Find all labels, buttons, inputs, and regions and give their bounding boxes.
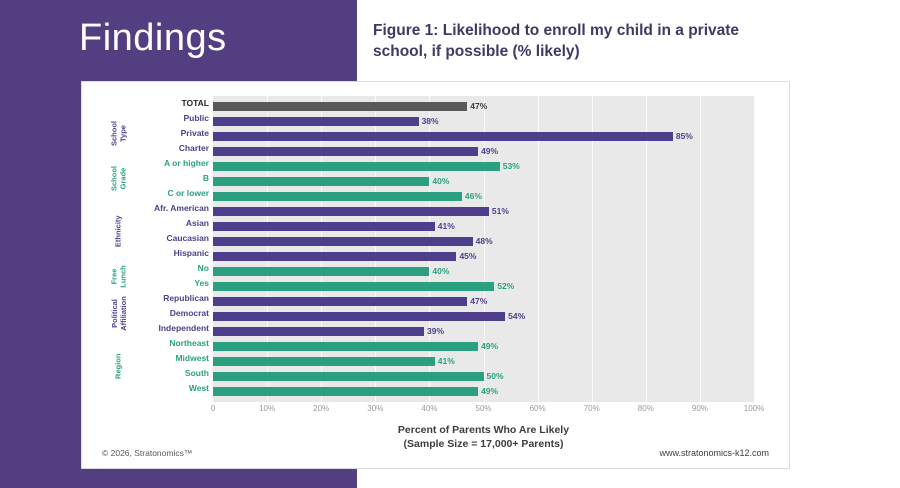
x-tick-label: 100% (744, 404, 764, 413)
x-tick-label: 20% (313, 404, 329, 413)
x-tick-label: 40% (421, 404, 437, 413)
bar-value-label: 41% (438, 220, 455, 232)
group-label-text: Free Lunch (111, 261, 128, 291)
bar-row: 54% (213, 309, 754, 324)
x-tick-label: 30% (367, 404, 383, 413)
bar-value-label: 47% (470, 100, 487, 112)
bar[interactable] (213, 387, 478, 396)
x-tick-label: 0 (211, 404, 215, 413)
bar-row: 38% (213, 114, 754, 129)
x-tick-label: 80% (638, 404, 654, 413)
category-label: C or lower (137, 186, 209, 201)
bar-row: 49% (213, 384, 754, 399)
group-label: School Type (104, 111, 134, 156)
bar-row: 47% (213, 294, 754, 309)
bar-row: 52% (213, 279, 754, 294)
category-label: Afr. American (137, 201, 209, 216)
group-label-axis: School TypeSchool GradeEthnicityFree Lun… (104, 96, 134, 402)
bar-value-label: 47% (470, 295, 487, 307)
bar[interactable] (213, 147, 478, 156)
category-label: B (137, 171, 209, 186)
slide-canvas: Findings Figure 1: Likelihood to enroll … (0, 0, 900, 488)
bar-value-label: 40% (432, 175, 449, 187)
bar[interactable] (213, 237, 473, 246)
category-label: Independent (137, 321, 209, 336)
bar-row: 48% (213, 234, 754, 249)
category-label: Public (137, 111, 209, 126)
x-axis-title-line1: Percent of Parents Who Are Likely (213, 423, 754, 437)
bar[interactable] (213, 117, 419, 126)
bar[interactable] (213, 342, 478, 351)
bar-row: 39% (213, 324, 754, 339)
bar-value-label: 40% (432, 265, 449, 277)
bar-value-label: 49% (481, 385, 498, 397)
bar-value-label: 54% (508, 310, 525, 322)
x-axis-ticks: 010%20%30%40%50%60%70%80%90%100% (213, 404, 754, 418)
category-label: Northeast (137, 336, 209, 351)
plot-area: 47%38%85%49%53%40%46%51%41%48%45%40%52%4… (213, 96, 754, 402)
x-tick-label: 90% (692, 404, 708, 413)
bar-value-label: 48% (476, 235, 493, 247)
category-label: Democrat (137, 306, 209, 321)
bar-row: 50% (213, 369, 754, 384)
bar-row: 51% (213, 204, 754, 219)
category-label: No (137, 261, 209, 276)
category-label-axis: TOTALPublicPrivateCharterA or higherBC o… (137, 96, 209, 402)
bar-row: 53% (213, 159, 754, 174)
bar-value-label: 49% (481, 340, 498, 352)
category-label: Republican (137, 291, 209, 306)
group-label-text: Political Affiliation (111, 296, 128, 331)
category-label: Charter (137, 141, 209, 156)
bar[interactable] (213, 177, 429, 186)
bar[interactable] (213, 357, 435, 366)
x-axis-title: Percent of Parents Who Are Likely (Sampl… (213, 423, 754, 451)
bar-value-label: 53% (503, 160, 520, 172)
bar[interactable] (213, 132, 673, 141)
group-label: Region (104, 336, 134, 396)
group-label-text: School Grade (111, 164, 128, 194)
bar[interactable] (213, 222, 435, 231)
bar-value-label: 52% (497, 280, 514, 292)
bar-row: 40% (213, 264, 754, 279)
category-label: Caucasian (137, 231, 209, 246)
bar[interactable] (213, 207, 489, 216)
chart-card: School TypeSchool GradeEthnicityFree Lun… (81, 81, 790, 469)
group-label-text: Region (115, 353, 124, 378)
bar[interactable] (213, 372, 484, 381)
bar[interactable] (213, 297, 467, 306)
page-title: Findings (79, 16, 227, 60)
x-tick-label: 70% (584, 404, 600, 413)
category-label: West (137, 381, 209, 396)
bar-value-label: 51% (492, 205, 509, 217)
bar[interactable] (213, 282, 494, 291)
bar[interactable] (213, 192, 462, 201)
bar[interactable] (213, 327, 424, 336)
group-label: Political Affiliation (104, 291, 134, 336)
bar-value-label: 50% (487, 370, 504, 382)
category-label: South (137, 366, 209, 381)
category-label: A or higher (137, 156, 209, 171)
x-tick-label: 10% (259, 404, 275, 413)
bar-value-label: 85% (676, 130, 693, 142)
group-label: School Grade (104, 156, 134, 201)
category-label: Midwest (137, 351, 209, 366)
bar-value-label: 49% (481, 145, 498, 157)
category-label: Yes (137, 276, 209, 291)
bar-row: 47% (213, 99, 754, 114)
bar[interactable] (213, 312, 505, 321)
bar[interactable] (213, 102, 467, 111)
bar-value-label: 39% (427, 325, 444, 337)
bar-row: 45% (213, 249, 754, 264)
x-tick-label: 60% (530, 404, 546, 413)
bar-row: 41% (213, 219, 754, 234)
bar-row: 41% (213, 354, 754, 369)
copyright-text: © 2026, Stratonomics™ (102, 448, 192, 458)
bar[interactable] (213, 252, 456, 261)
bar-row: 40% (213, 174, 754, 189)
bar-value-label: 38% (422, 115, 439, 127)
bar-value-label: 45% (459, 250, 476, 262)
bar-value-label: 41% (438, 355, 455, 367)
bar[interactable] (213, 162, 500, 171)
bar-value-label: 46% (465, 190, 482, 202)
bar-row: 46% (213, 189, 754, 204)
bar-row: 49% (213, 144, 754, 159)
bar-row: 49% (213, 339, 754, 354)
figure-title: Figure 1: Likelihood to enroll my child … (373, 20, 793, 62)
category-label: Asian (137, 216, 209, 231)
x-tick-label: 50% (475, 404, 491, 413)
bar-row: 85% (213, 129, 754, 144)
gridline (754, 96, 755, 402)
category-label: Private (137, 126, 209, 141)
bar[interactable] (213, 267, 429, 276)
website-link[interactable]: www.stratonomics-k12.com (659, 448, 769, 458)
group-label: Free Lunch (104, 261, 134, 291)
group-label-text: School Type (111, 119, 128, 149)
category-label: TOTAL (137, 96, 209, 111)
group-label: Ethnicity (104, 201, 134, 261)
group-label-text: Ethnicity (115, 215, 124, 247)
category-label: Hispanic (137, 246, 209, 261)
